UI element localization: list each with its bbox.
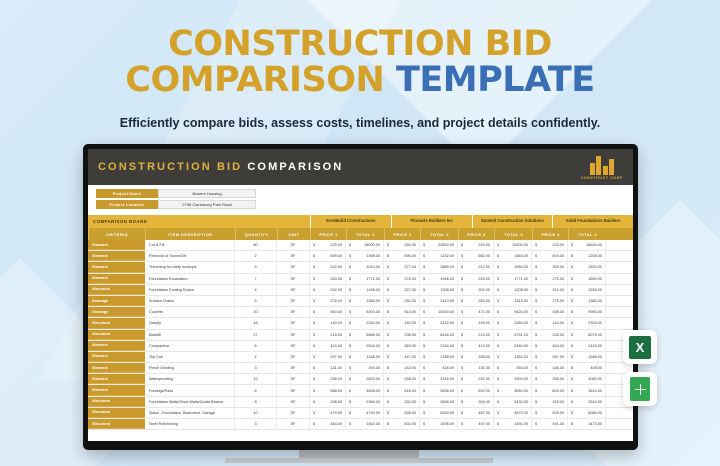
table-row[interactable]: SiteworkWaterproofing12SF$235.00$2820.00… [88, 374, 633, 385]
cell-price-4: $318.00 [532, 397, 568, 407]
col-total-4[interactable]: TOTAL 4 [568, 228, 606, 240]
column-header-row: CRITERIA ITEM DESCRIPTION QUANTITY UNIT … [88, 228, 633, 240]
table-row[interactable]: SiteworkTrenching for utility hookups5SF… [88, 262, 633, 273]
cell-price-4: $225.00 [532, 330, 568, 340]
cell-criteria: Drainage [88, 296, 145, 306]
cell-price-2: $526.00 [384, 408, 420, 418]
cell-price-3: $131.00 [458, 363, 494, 373]
cell-criteria: Sitework [88, 374, 145, 384]
cell-total-3: $3552.00 [494, 385, 532, 395]
cell-quantity: 4 [235, 352, 277, 362]
cell-price-4: $314.00 [532, 285, 568, 295]
cell-total-4: $9960.00 [568, 307, 606, 317]
project-info-section: Project Name Bowers Housing Project Loca… [88, 185, 633, 214]
monitor-frame: CONSTRUCTION BID COMPARISON CONSTRUCT CO… [83, 144, 638, 450]
cell-description: Footings/Pads [145, 385, 235, 395]
headline-template: TEMPLATE [396, 60, 595, 100]
cell-description: Waterproofing [145, 374, 235, 384]
cell-criteria: Sitework [88, 352, 145, 362]
project-location-row: Project Location 2798 Clarksburg Park Ro… [96, 200, 625, 209]
cell-total-1: $1380.00 [346, 296, 384, 306]
vendor-header-2: Pinnacle Builders Inc [391, 215, 472, 228]
cell-total-2: $1506.00 [420, 419, 458, 429]
cell-criteria: Sitework [88, 363, 145, 373]
cell-total-4: $3060.00 [568, 374, 606, 384]
cell-total-1: $18000.00 [346, 240, 384, 250]
cell-total-3: $4870.00 [494, 408, 532, 418]
cell-price-4: $505.00 [532, 408, 568, 418]
cell-total-3: $9420.00 [494, 307, 532, 317]
cell-total-3: $2384.00 [494, 318, 532, 328]
cell-price-1: $424.00 [310, 341, 346, 351]
cell-price-4: $397.00 [532, 352, 568, 362]
cell-price-2: $332.00 [384, 397, 420, 407]
cell-quantity: 7 [235, 274, 277, 284]
sheet-title-white: COMPARISON [247, 161, 343, 173]
table-row[interactable]: SiteworkFoundation Excavation7SF$253.00$… [88, 274, 633, 285]
col-price-3[interactable]: PRICE 3 [458, 228, 494, 240]
cell-total-2: $3216.00 [420, 374, 458, 384]
cell-description: Gravity [145, 318, 235, 328]
cell-total-3: $1364.00 [494, 251, 532, 261]
cell-total-2: $5260.00 [420, 408, 458, 418]
cell-unit: SF [277, 408, 310, 418]
cell-price-2: $502.00 [384, 419, 420, 429]
comparison-band: COMPARISON BOARD EverBuild Constructions… [88, 214, 633, 228]
cell-criteria: Drainage [88, 307, 145, 317]
cell-unit: SF [277, 251, 310, 261]
cell-price-2: $447.00 [384, 352, 420, 362]
cell-price-1: $225.00 [310, 240, 346, 250]
cell-unit: SF [277, 285, 310, 295]
building-icon [590, 155, 615, 175]
cell-price-3: $253.00 [458, 274, 494, 284]
cell-total-2: $1192.00 [420, 251, 458, 261]
cell-total-1: $5886.00 [346, 330, 384, 340]
cell-price-3: $497.00 [458, 419, 494, 429]
cell-unit: SF [277, 330, 310, 340]
company-logo: CONSTRUCT CORP [581, 155, 623, 180]
page-title: CONSTRUCTION BID COMPARISON TEMPLATE [0, 26, 720, 99]
cell-price-4: $233.00 [532, 240, 568, 250]
cell-criteria: Structural [88, 318, 145, 328]
vendor-header-4: Solid Foundations Builders [552, 215, 633, 228]
cell-price-3: $592.00 [458, 385, 494, 395]
cell-price-1: $588.00 [310, 385, 346, 395]
col-unit[interactable]: UNIT [277, 228, 310, 240]
cell-quantity: 8 [235, 397, 277, 407]
col-total-3[interactable]: TOTAL 3 [494, 228, 532, 240]
google-sheets-export-button[interactable] [623, 372, 657, 406]
cell-total-1: $1771.00 [346, 274, 384, 284]
headline-line-1: CONSTRUCTION BID [0, 26, 720, 62]
cell-criteria: Sitework [88, 385, 145, 395]
cell-quantity: 6 [235, 341, 277, 351]
company-logo-text: CONSTRUCT CORP [581, 176, 623, 180]
cell-price-3: $242.00 [458, 374, 494, 384]
table-row[interactable]: SiteworkCut & Fill80SF$225.00$18000.00$2… [88, 240, 633, 251]
cell-total-1: $2820.00 [346, 374, 384, 384]
cell-unit: SF [277, 318, 310, 328]
monitor-stand-neck [299, 450, 419, 458]
cell-price-3: $263.00 [458, 296, 494, 306]
cell-quantity: 2 [235, 251, 277, 261]
cell-price-4: $276.00 [532, 296, 568, 306]
cell-price-4: $144.00 [532, 318, 568, 328]
cell-unit: SF [277, 419, 310, 429]
col-total-2[interactable]: TOTAL 2 [420, 228, 458, 240]
cell-quantity: 80 [235, 240, 277, 250]
cell-total-4: $2424.00 [568, 341, 606, 351]
cell-total-2: $2656.00 [420, 397, 458, 407]
cell-total-4: $1588.00 [568, 352, 606, 362]
cell-description: Culverts [145, 307, 235, 317]
cell-description: Steel Reinforcing [145, 419, 235, 429]
cell-total-4: $1473.00 [568, 419, 606, 429]
cell-price-2: $282.00 [384, 296, 420, 306]
table-row[interactable]: DrainageSurface Drains5SF$276.00$1380.00… [88, 296, 633, 307]
cell-price-1: $297.00 [310, 352, 346, 362]
cell-unit: SF [277, 385, 310, 395]
cell-total-4: $1890.00 [568, 274, 606, 284]
table-body: SiteworkCut & Fill80SF$225.00$18000.00$2… [88, 240, 633, 430]
project-name-row: Project Name Bowers Housing [96, 189, 625, 198]
cell-price-2: $389.00 [384, 341, 420, 351]
table-row[interactable]: SiteworkFootings/Pads6SF$588.00$3528.00$… [88, 385, 633, 396]
col-price-4[interactable]: PRICE 4 [532, 228, 568, 240]
comparison-board-label: COMPARISON BOARD [88, 215, 310, 228]
cell-total-2: $1410.00 [420, 296, 458, 306]
project-name-input[interactable]: Bowers Housing [158, 189, 256, 198]
cell-price-3: $304.00 [458, 397, 494, 407]
cell-unit: SF [277, 307, 310, 317]
cell-price-2: $238.00 [384, 330, 420, 340]
cell-criteria: Sitework [88, 341, 145, 351]
cell-unit: SF [277, 240, 310, 250]
col-criteria[interactable]: CRITERIA [88, 228, 145, 240]
cell-total-3: $1352.00 [494, 352, 532, 362]
cell-total-3: $19200.00 [494, 240, 532, 250]
cell-price-2: $327.00 [384, 285, 420, 295]
cell-total-1: $1168.00 [346, 285, 384, 295]
page-subtitle: Efficiently compare bids, assess costs, … [0, 116, 720, 130]
cell-price-1: $479.00 [310, 408, 346, 418]
cell-total-4: $6075.00 [568, 330, 606, 340]
cell-total-4: $3624.00 [568, 385, 606, 395]
cell-total-2: $3696.00 [420, 385, 458, 395]
cell-total-2: $1308.00 [420, 285, 458, 295]
cell-unit: SF [277, 341, 310, 351]
cell-total-4: $2544.00 [568, 397, 606, 407]
cell-description: Backfill [145, 330, 235, 340]
cell-description: Foundation Excavation [145, 274, 235, 284]
cell-total-2: $20800.00 [420, 240, 458, 250]
cell-description: Surface Drains [145, 296, 235, 306]
cell-quantity: 3 [235, 419, 277, 429]
cell-quantity: 12 [235, 374, 277, 384]
cell-price-2: $596.00 [384, 251, 420, 261]
cell-price-3: $471.00 [458, 307, 494, 317]
table-row[interactable]: SiteworkCompaction6SF$424.00$2544.00$389… [88, 341, 633, 352]
cell-criteria: Sitework [88, 262, 145, 272]
cell-total-1: $2384.00 [346, 397, 384, 407]
cell-price-2: $268.00 [384, 374, 420, 384]
cell-price-4: $136.00 [532, 363, 568, 373]
table-row[interactable]: SiteworkTop Soil4SF$297.00$1188.00$447.0… [88, 352, 633, 363]
cell-price-1: $202.00 [310, 262, 346, 272]
cell-price-1: $292.00 [310, 285, 346, 295]
cell-price-1: $140.00 [310, 318, 346, 328]
cell-total-2: $2432.00 [420, 318, 458, 328]
cell-price-3: $487.00 [458, 408, 494, 418]
cell-total-1: $1398.00 [346, 251, 384, 261]
cell-price-1: $235.00 [310, 374, 346, 384]
cell-quantity: 27 [235, 330, 277, 340]
cell-price-4: $404.00 [532, 341, 568, 351]
cell-total-1: $9200.00 [346, 307, 384, 317]
cell-quantity: 16 [235, 318, 277, 328]
cell-quantity: 3 [235, 363, 277, 373]
cell-price-4: $300.00 [532, 262, 568, 272]
cell-criteria: Structural [88, 330, 145, 340]
cell-quantity: 10 [235, 408, 277, 418]
cell-total-4: $408.00 [568, 363, 606, 373]
cell-price-2: $260.00 [384, 240, 420, 250]
cell-description: Cut & Fill [145, 240, 235, 250]
cell-total-1: $3528.00 [346, 385, 384, 395]
cell-total-2: $2334.00 [420, 341, 458, 351]
headline-line-2: COMPARISON TEMPLATE [0, 62, 720, 98]
cell-price-2: $142.00 [384, 363, 420, 373]
cell-price-1: $131.00 [310, 363, 346, 373]
cell-price-2: $513.00 [384, 307, 420, 317]
col-description[interactable]: ITEM DESCRIPTION [145, 228, 235, 240]
cell-price-1: $699.00 [310, 251, 346, 261]
cell-price-3: $414.00 [458, 341, 494, 351]
cell-price-2: $616.00 [384, 385, 420, 395]
cell-criteria: Structural [88, 285, 145, 295]
cell-criteria: Structural [88, 419, 145, 429]
cell-price-4: $604.00 [532, 385, 568, 395]
cell-total-1: $2240.00 [346, 318, 384, 328]
cell-description: Foundation Walls/Short Walls/Grade Beams [145, 397, 235, 407]
cell-total-1: $2544.00 [346, 341, 384, 351]
cell-unit: SF [277, 262, 310, 272]
cell-description: Finish Grading [145, 363, 235, 373]
cell-total-3: $2484.00 [494, 341, 532, 351]
cell-price-1: $276.00 [310, 296, 346, 306]
vendor-header-1: EverBuild Constructions [310, 215, 391, 228]
cell-quantity: 5 [235, 262, 277, 272]
cell-price-3: $682.00 [458, 251, 494, 261]
cell-description: Compaction [145, 341, 235, 351]
cell-price-3: $149.00 [458, 318, 494, 328]
cell-total-3: $5751.00 [494, 330, 532, 340]
cell-total-3: $2432.00 [494, 397, 532, 407]
cell-price-2: $377.00 [384, 262, 420, 272]
table-row[interactable]: StructuralSlabs - Foundation, Basement, … [88, 408, 633, 419]
cell-total-3: $1771.00 [494, 274, 532, 284]
cell-total-4: $1500.00 [568, 262, 606, 272]
cell-quantity: 20 [235, 307, 277, 317]
project-location-label: Project Location [96, 200, 158, 209]
cell-total-4: $1256.00 [568, 285, 606, 295]
cell-total-3: $2904.00 [494, 374, 532, 384]
cell-price-1: $484.00 [310, 419, 346, 429]
table-row[interactable]: StructuralBackfill27SF$218.00$5886.00$23… [88, 330, 633, 341]
cell-description: Top Soil [145, 352, 235, 362]
cell-criteria: Structural [88, 397, 145, 407]
cell-unit: SF [277, 363, 310, 373]
col-price-1[interactable]: PRICE 1 [310, 228, 346, 240]
cell-unit: SF [277, 397, 310, 407]
cell-total-2: $426.00 [420, 363, 458, 373]
cell-price-1: $218.00 [310, 330, 346, 340]
table-row[interactable]: SiteworkRemoval of Stone/Dirt2SF$699.00$… [88, 251, 633, 262]
cell-quantity: 4 [235, 285, 277, 295]
cell-price-1: $460.00 [310, 307, 346, 317]
cell-price-4: $270.00 [532, 274, 568, 284]
sheet-title: CONSTRUCTION BID COMPARISON [98, 161, 343, 173]
cell-unit: SF [277, 374, 310, 384]
cell-price-2: $152.00 [384, 318, 420, 328]
cell-total-4: $2304.00 [568, 318, 606, 328]
table-row[interactable]: StructuralFoundation Footing Drains4SF$2… [88, 285, 633, 296]
cell-criteria: Sitework [88, 251, 145, 261]
cell-price-3: $302.00 [458, 285, 494, 295]
cell-unit: SF [277, 352, 310, 362]
cell-price-3: $338.00 [458, 352, 494, 362]
cell-total-3: $393.00 [494, 363, 532, 373]
project-name-label: Project Name [96, 189, 158, 198]
vendor-header-3: Summit Construction Solutions [472, 215, 553, 228]
table-row[interactable]: StructuralSteel Reinforcing3SF$484.00$14… [88, 419, 633, 430]
cell-total-1: $393.00 [346, 363, 384, 373]
cell-criteria: Sitework [88, 274, 145, 284]
cell-criteria: Sitework [88, 240, 145, 250]
col-total-1[interactable]: TOTAL 1 [346, 228, 384, 240]
sheet-title-gold: CONSTRUCTION BID [98, 161, 242, 173]
cell-price-1: $298.00 [310, 397, 346, 407]
cell-total-1: $1010.00 [346, 262, 384, 272]
cell-total-4: $1380.00 [568, 296, 606, 306]
cell-total-1: $1452.00 [346, 419, 384, 429]
headline-comparison: COMPARISON [125, 60, 384, 100]
cell-price-4: $498.00 [532, 307, 568, 317]
spreadsheet-screen: CONSTRUCTION BID COMPARISON CONSTRUCT CO… [88, 149, 633, 441]
cell-total-4: $18640.00 [568, 240, 606, 250]
cell-price-3: $240.00 [458, 240, 494, 250]
cell-quantity: 5 [235, 296, 277, 306]
google-sheets-icon [630, 377, 650, 401]
cell-price-3: $212.00 [458, 262, 494, 272]
cell-total-3: $1060.00 [494, 262, 532, 272]
cell-price-1: $253.00 [310, 274, 346, 284]
table-row[interactable]: StructuralGravity16SF$140.00$2240.00$152… [88, 318, 633, 329]
cell-total-2: $1885.00 [420, 262, 458, 272]
cell-price-2: $278.00 [384, 274, 420, 284]
cell-total-4: $5050.00 [568, 408, 606, 418]
cell-quantity: 6 [235, 385, 277, 395]
cell-price-4: $491.00 [532, 419, 568, 429]
cell-total-2: $10260.00 [420, 307, 458, 317]
cell-description: Removal of Stone/Dirt [145, 251, 235, 261]
cell-price-4: $604.00 [532, 251, 568, 261]
cell-total-3: $1315.00 [494, 296, 532, 306]
export-icons: X [623, 330, 657, 406]
cell-total-4: $1208.00 [568, 251, 606, 261]
cell-total-3: $1208.00 [494, 285, 532, 295]
cell-price-3: $213.00 [458, 330, 494, 340]
excel-export-button[interactable]: X [623, 330, 657, 364]
col-price-2[interactable]: PRICE 2 [384, 228, 420, 240]
cell-unit: SF [277, 274, 310, 284]
cell-total-1: $1188.00 [346, 352, 384, 362]
cell-total-1: $4790.00 [346, 408, 384, 418]
monitor-stand-base [225, 458, 493, 463]
col-quantity[interactable]: QUANTITY [235, 228, 277, 240]
cell-total-3: $1491.00 [494, 419, 532, 429]
table-row[interactable]: DrainageCulverts20SF$460.00$9200.00$513.… [88, 307, 633, 318]
project-location-input[interactable]: 2798 Clarksburg Park Road [158, 200, 256, 209]
cell-price-4: $255.00 [532, 374, 568, 384]
sheet-header: CONSTRUCTION BID COMPARISON CONSTRUCT CO… [88, 149, 633, 185]
cell-criteria: Structural [88, 408, 145, 418]
table-row[interactable]: SiteworkFinish Grading3SF$131.00$393.00$… [88, 363, 633, 374]
cell-description: Foundation Footing Drains [145, 285, 235, 295]
cell-description: Slabs - Foundation, Basement, Garage [145, 408, 235, 418]
cell-description: Trenching for utility hookups [145, 262, 235, 272]
excel-file-icon: X [629, 336, 651, 359]
cell-total-2: $1788.00 [420, 352, 458, 362]
cell-total-2: $1946.00 [420, 274, 458, 284]
cell-unit: SF [277, 296, 310, 306]
table-row[interactable]: StructuralFoundation Walls/Short Walls/G… [88, 397, 633, 408]
cell-total-2: $6426.00 [420, 330, 458, 340]
